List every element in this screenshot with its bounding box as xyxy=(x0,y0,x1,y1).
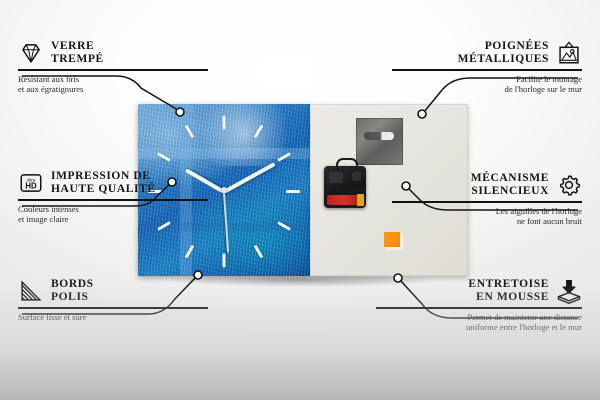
clock-tick xyxy=(254,244,264,258)
mechanism-label xyxy=(329,172,343,183)
polished-edge-icon xyxy=(18,278,44,304)
callout-title-line2: HAUTE QUALITÉ xyxy=(51,183,156,195)
callout-title-line2: EN MOUSSE xyxy=(476,291,549,303)
callout-title-line2: MÉTALLIQUES xyxy=(458,53,549,65)
callout-title-line1: BORDS xyxy=(51,278,94,290)
callout-entretoise-en-mousse: ENTRETOISEEN MOUSSE Permet de maintenir … xyxy=(376,278,582,332)
clock-hand-minute xyxy=(223,162,276,194)
callout-rule xyxy=(376,307,582,309)
callout-title-line2: POLIS xyxy=(51,291,89,303)
clock-mechanism xyxy=(324,166,366,208)
callout-sub-line2: et image claire xyxy=(18,214,69,224)
battery xyxy=(327,195,363,205)
callout-sub-line1: Résistant aux bris xyxy=(18,74,79,84)
mechanism-hanging-loop xyxy=(336,158,358,170)
infographic-canvas: VERRETREMPÉ Résistant aux briset aux égr… xyxy=(0,0,600,400)
callout-rule xyxy=(392,201,582,203)
callout-sub-line1: Facilite le montage xyxy=(516,74,582,84)
callout-sub-line2: ne font aucun bruit xyxy=(517,216,582,226)
callout-bords-polis: BORDSPOLIS Surface lisse et sûre xyxy=(18,278,208,322)
glass-glare xyxy=(200,104,289,166)
svg-text:HD: HD xyxy=(25,182,37,191)
diamond-icon xyxy=(18,40,44,66)
mechanism-screw xyxy=(352,172,361,181)
callout-sub-line2: de l'horloge sur le mur xyxy=(505,84,582,94)
callout-impression-haute-qualite: ultra HD IMPRESSION DEHAUTE QUALITÉ Coul… xyxy=(18,170,208,224)
callout-title-line2: TREMPÉ xyxy=(51,53,104,65)
callout-rule xyxy=(392,69,582,71)
callout-verre-trempe: VERRETREMPÉ Résistant aux briset aux égr… xyxy=(18,40,208,94)
foam-spacer-icon xyxy=(556,278,582,304)
ultra-hd-icon: ultra HD xyxy=(18,170,44,196)
callout-sub-line2: uniforme entre l'horloge et le mur xyxy=(466,322,582,332)
callout-title-line1: POIGNÉES xyxy=(485,40,549,52)
callout-sub-line2: et aux égratignures xyxy=(18,84,83,94)
clock-tick xyxy=(223,116,226,130)
callout-poignees-metalliques: POIGNÉESMÉTALLIQUES Facilite le montaged… xyxy=(392,40,582,94)
clock-tick xyxy=(223,254,226,268)
callout-title-line1: ENTRETOISE xyxy=(468,278,549,290)
callout-mecanisme-silencieux: MÉCANISMESILENCIEUX Les aiguilles de l'h… xyxy=(392,172,582,226)
clock-tick xyxy=(286,190,300,193)
hanging-frame-icon xyxy=(556,40,582,66)
clock-center-hub xyxy=(221,187,227,193)
callout-sub-line1: Couleurs intenses xyxy=(18,204,79,214)
metal-hanger-plate xyxy=(356,118,403,165)
hanger-slot xyxy=(364,132,394,140)
callout-sub-line1: Permet de maintenir une distance xyxy=(467,312,582,322)
gear-icon xyxy=(556,172,582,198)
callout-rule xyxy=(18,69,208,71)
callout-title-line2: SILENCIEUX xyxy=(471,185,549,197)
callout-title-line1: MÉCANISME xyxy=(471,172,549,184)
foam-spacer xyxy=(384,232,400,247)
callout-title-line1: IMPRESSION DE xyxy=(51,170,151,182)
callout-rule xyxy=(18,199,208,201)
callout-sub-line1: Les aiguilles de l'horloge xyxy=(496,206,582,216)
callout-rule xyxy=(18,307,208,309)
callout-title-line1: VERRE xyxy=(51,40,94,52)
callout-sub-line1: Surface lisse et sûre xyxy=(18,312,87,322)
